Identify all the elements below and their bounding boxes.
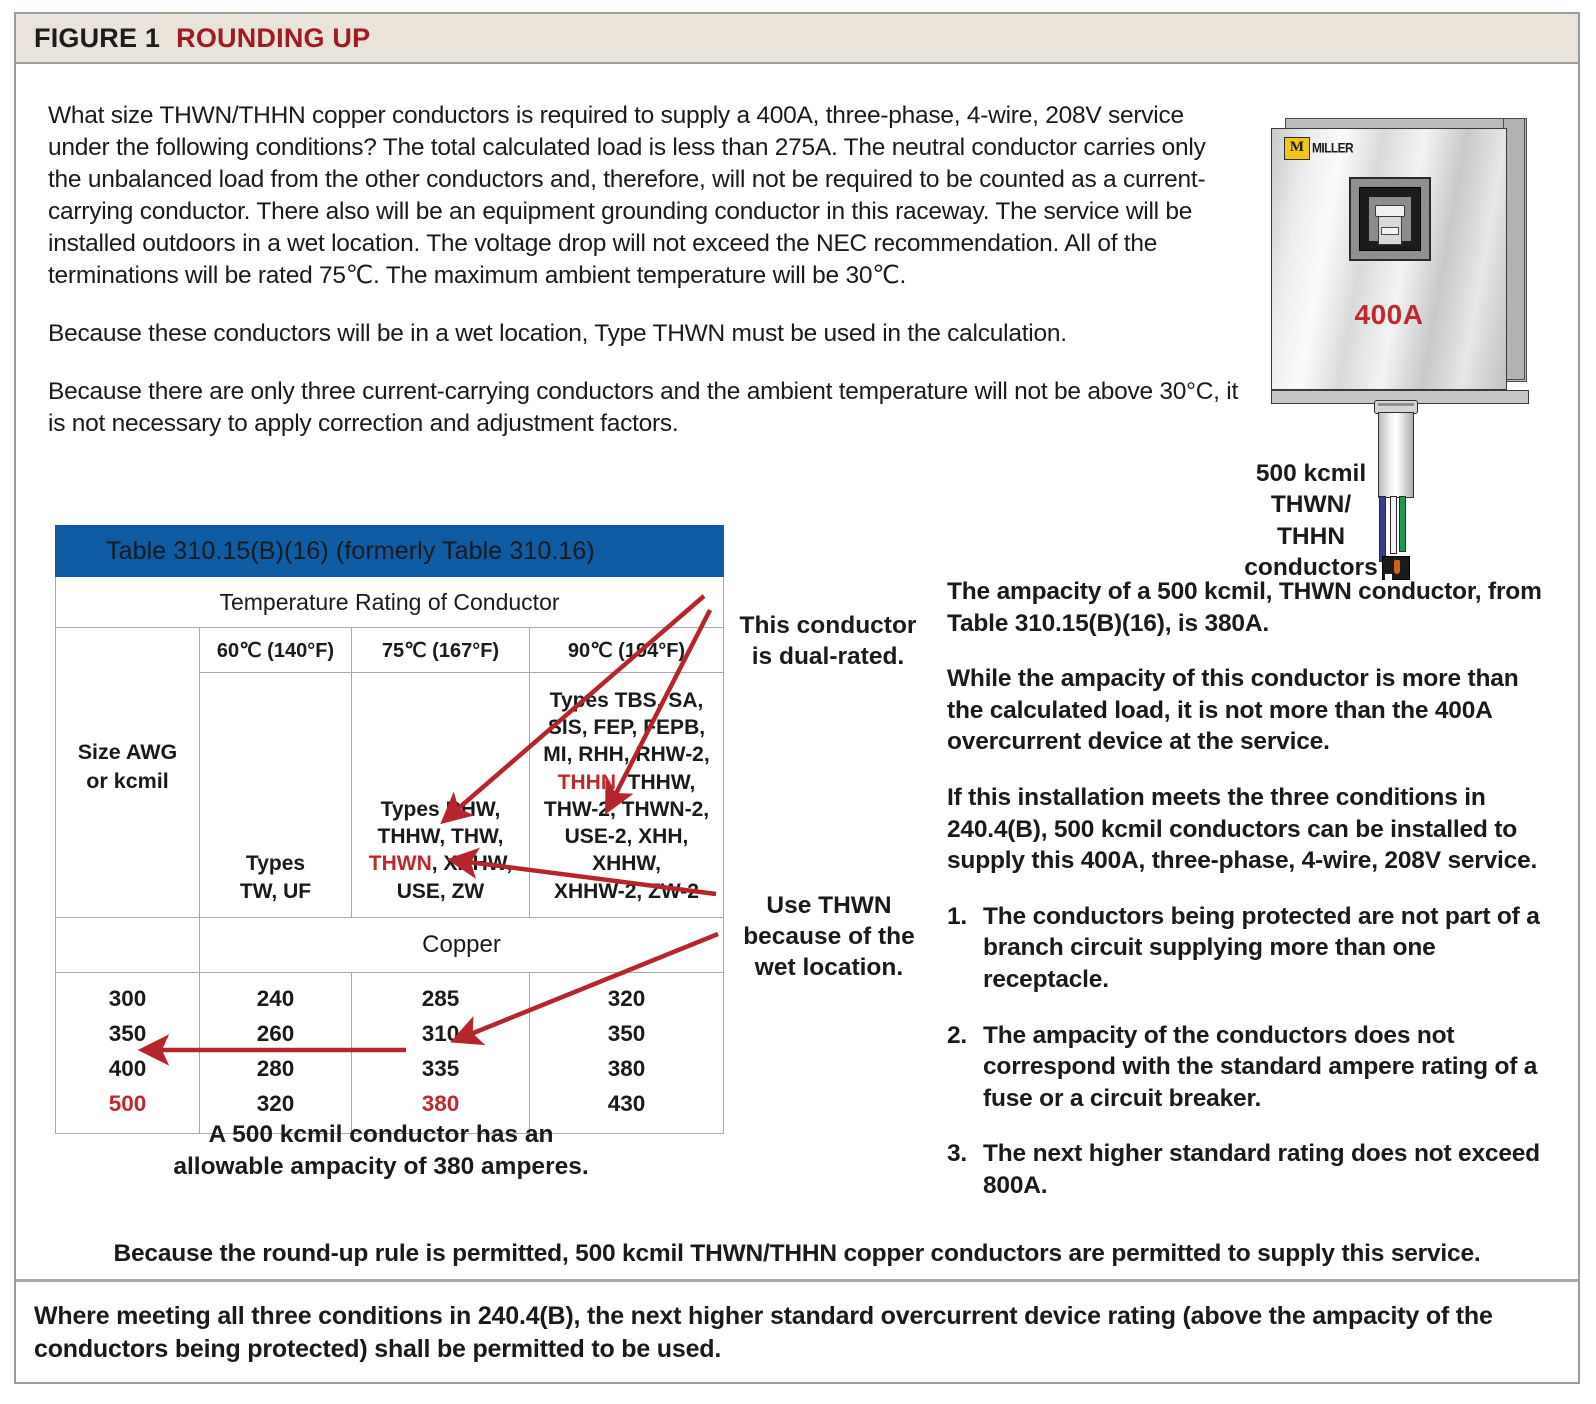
ampacity-90c-300: 320 <box>530 982 723 1017</box>
size-value-300: 300 <box>56 982 199 1017</box>
condition-item-3: 3. The next higher standard rating does … <box>947 1138 1557 1201</box>
condition-text-3: The next higher standard rating does not… <box>983 1140 1540 1199</box>
condition-number-2: 2. <box>947 1020 967 1052</box>
ampacity-90c-350: 350 <box>530 1017 723 1052</box>
condition-text-2: The ampacity of the conductors does not … <box>983 1022 1537 1112</box>
table-caption: A 500 kcmil conductor has an allowable a… <box>121 1119 641 1183</box>
thwn-highlight: THWN <box>369 852 432 875</box>
types-cell-60c: Types TW, UF <box>200 673 352 918</box>
temp-column-90c: 90℃ (194°F) <box>530 628 724 673</box>
condition-item-1: 1. The conductors being protected are no… <box>947 901 1557 996</box>
conductor-caption-line-2: THWN/ <box>1206 489 1416 520</box>
types-cell-90c: Types TBS, SA, SIS, FEP, FEPB, MI, RHH, … <box>530 673 724 918</box>
footnote-region: Where meeting all three conditions in 24… <box>16 1279 1578 1384</box>
callout-use-thwn-line-2: because of the <box>734 921 924 952</box>
right-paragraph-3: If this installation meets the three con… <box>947 782 1557 877</box>
ampacity-75c-350: 310 <box>352 1017 529 1052</box>
data-col-60c: 240 260 280 320 <box>200 973 352 1134</box>
figure-label: FIGURE 1 <box>34 23 160 54</box>
panel-front-face: M MILLER 400A <box>1271 128 1507 390</box>
ampacity-table: Table 310.15(B)(16) (formerly Table 310.… <box>55 525 724 1134</box>
types-75c-line-3: THWN, XHHW, <box>352 850 529 877</box>
switch-base <box>1381 227 1399 235</box>
intro-paragraph-1: What size THWN/THHN copper conductors is… <box>48 100 1240 292</box>
table-material-row: Copper <box>56 918 724 973</box>
table-caption-line-2: allowable ampacity of 380 amperes. <box>121 1151 641 1183</box>
table-title-row: Table 310.15(B)(16) (formerly Table 310.… <box>56 526 724 577</box>
size-header-line-2: or kcmil <box>86 767 168 796</box>
figure-body: What size THWN/THHN copper conductors is… <box>16 64 1578 1279</box>
callout-use-thwn: Use THWN because of the wet location. <box>734 890 924 983</box>
right-text-column: The ampacity of a 500 kcmil, THWN conduc… <box>947 576 1557 1226</box>
switch-bezel <box>1359 187 1421 251</box>
table-data-row: 300 350 400 500 240 260 280 320 285 310 <box>56 973 724 1134</box>
material-label: Copper <box>200 918 724 973</box>
ampacity-60c-500: 320 <box>200 1087 351 1122</box>
size-value-500: 500 <box>56 1087 199 1122</box>
ampacity-60c-350: 260 <box>200 1017 351 1052</box>
types-75c-line-4: USE, ZW <box>352 878 529 905</box>
types-90c-line-1: Types TBS, SA, <box>530 687 723 714</box>
size-header-line-1: Size AWG <box>78 738 178 767</box>
callout-dual-rated-line-1: This conductor <box>728 610 928 641</box>
types-90c-line-5: THW-2, THWN-2, <box>530 796 723 823</box>
figure-frame: FIGURE 1 ROUNDING UP What size THWN/THHN… <box>14 12 1580 1384</box>
types-75c-line-2: THHW, THW, <box>352 823 529 850</box>
table-title: Table 310.15(B)(16) (formerly Table 310.… <box>56 526 724 577</box>
types-60c-line-1: Types <box>200 850 351 877</box>
panel-amp-rating: 400A <box>1272 299 1506 331</box>
types-90c-line-3: MI, RHH, RHW-2, <box>530 741 723 768</box>
ampacity-90c-400: 380 <box>530 1052 723 1087</box>
material-row-left-spacer <box>56 918 200 973</box>
condition-number-3: 3. <box>947 1138 967 1170</box>
types-60c-line-2: TW, UF <box>200 878 351 905</box>
size-header-cell: Size AWG or kcmil <box>56 628 200 918</box>
conductor-caption: 500 kcmil THWN/ THHN conductors <box>1206 458 1416 583</box>
disconnect-switch-icon <box>1349 177 1431 261</box>
miller-logo: M MILLER <box>1284 137 1376 159</box>
intro-paragraph-2: Because these conductors will be in a we… <box>48 318 1240 350</box>
intro-text-block: What size THWN/THHN copper conductors is… <box>48 100 1240 466</box>
thhn-highlight: THHN <box>558 771 616 794</box>
types-90c-line-6: USE-2, XHH, XHHW, <box>530 823 723 878</box>
condition-text-1: The conductors being protected are not p… <box>983 903 1540 993</box>
condition-item-2: 2. The ampacity of the conductors does n… <box>947 1020 1557 1115</box>
intro-paragraph-3: Because there are only three current-car… <box>48 376 1240 440</box>
footnote-text: Where meeting all three conditions in 24… <box>34 1300 1554 1365</box>
callout-use-thwn-line-3: wet location. <box>734 952 924 983</box>
conclusion-text: Because the round-up rule is permitted, … <box>16 1240 1578 1268</box>
right-paragraph-2: While the ampacity of this conductor is … <box>947 663 1557 758</box>
conductor-caption-line-1: 500 kcmil <box>1206 458 1416 489</box>
table-caption-line-1: A 500 kcmil conductor has an <box>121 1119 641 1151</box>
figure-header: FIGURE 1 ROUNDING UP <box>16 14 1578 64</box>
size-value-400: 400 <box>56 1052 199 1087</box>
ampacity-75c-500: 380 <box>352 1087 529 1122</box>
temp-column-75c: 75℃ (167°F) <box>352 628 530 673</box>
types-90c-line-4: THHN, THHW, <box>530 769 723 796</box>
types-90c-line-7: XHHW-2, ZW-2 <box>530 878 723 905</box>
data-col-75c: 285 310 335 380 <box>352 973 530 1134</box>
ampacity-75c-400: 335 <box>352 1052 529 1087</box>
right-paragraph-1: The ampacity of a 500 kcmil, THWN conduc… <box>947 576 1557 639</box>
figure-title: ROUNDING UP <box>176 23 370 54</box>
conditions-list: 1. The conductors being protected are no… <box>947 901 1557 1202</box>
table-subheader: Temperature Rating of Conductor <box>56 577 724 628</box>
ampacity-60c-400: 280 <box>200 1052 351 1087</box>
size-value-350: 350 <box>56 1017 199 1052</box>
types-75c-line-1: Types RHW, <box>352 796 529 823</box>
ampacity-90c-500: 430 <box>530 1087 723 1122</box>
table-subheader-row: Temperature Rating of Conductor <box>56 577 724 628</box>
temp-column-60c: 60℃ (140°F) <box>200 628 352 673</box>
conductor-caption-line-3: THHN <box>1206 521 1416 552</box>
callout-dual-rated-line-2: is dual-rated. <box>728 641 928 672</box>
condition-number-1: 1. <box>947 901 967 933</box>
callout-dual-rated: This conductor is dual-rated. <box>728 610 928 672</box>
electrical-panel-illustration: M MILLER 400A <box>1261 106 1551 576</box>
table-temp-header-row: Size AWG or kcmil 60℃ (140°F) 75℃ (167°F… <box>56 628 724 673</box>
data-col-size: 300 350 400 500 <box>56 973 200 1134</box>
ampacity-75c-300: 285 <box>352 982 529 1017</box>
ampacity-60c-300: 240 <box>200 982 351 1017</box>
miller-logo-initial: M <box>1284 137 1310 160</box>
switch-window <box>1369 197 1411 241</box>
types-cell-75c: Types RHW, THHW, THW, THWN, XHHW, USE, Z… <box>352 673 530 918</box>
data-col-90c: 320 350 380 430 <box>530 973 724 1134</box>
callout-use-thwn-line-1: Use THWN <box>734 890 924 921</box>
types-90c-line-2: SIS, FEP, FEPB, <box>530 714 723 741</box>
miller-logo-text: MILLER <box>1312 140 1353 156</box>
